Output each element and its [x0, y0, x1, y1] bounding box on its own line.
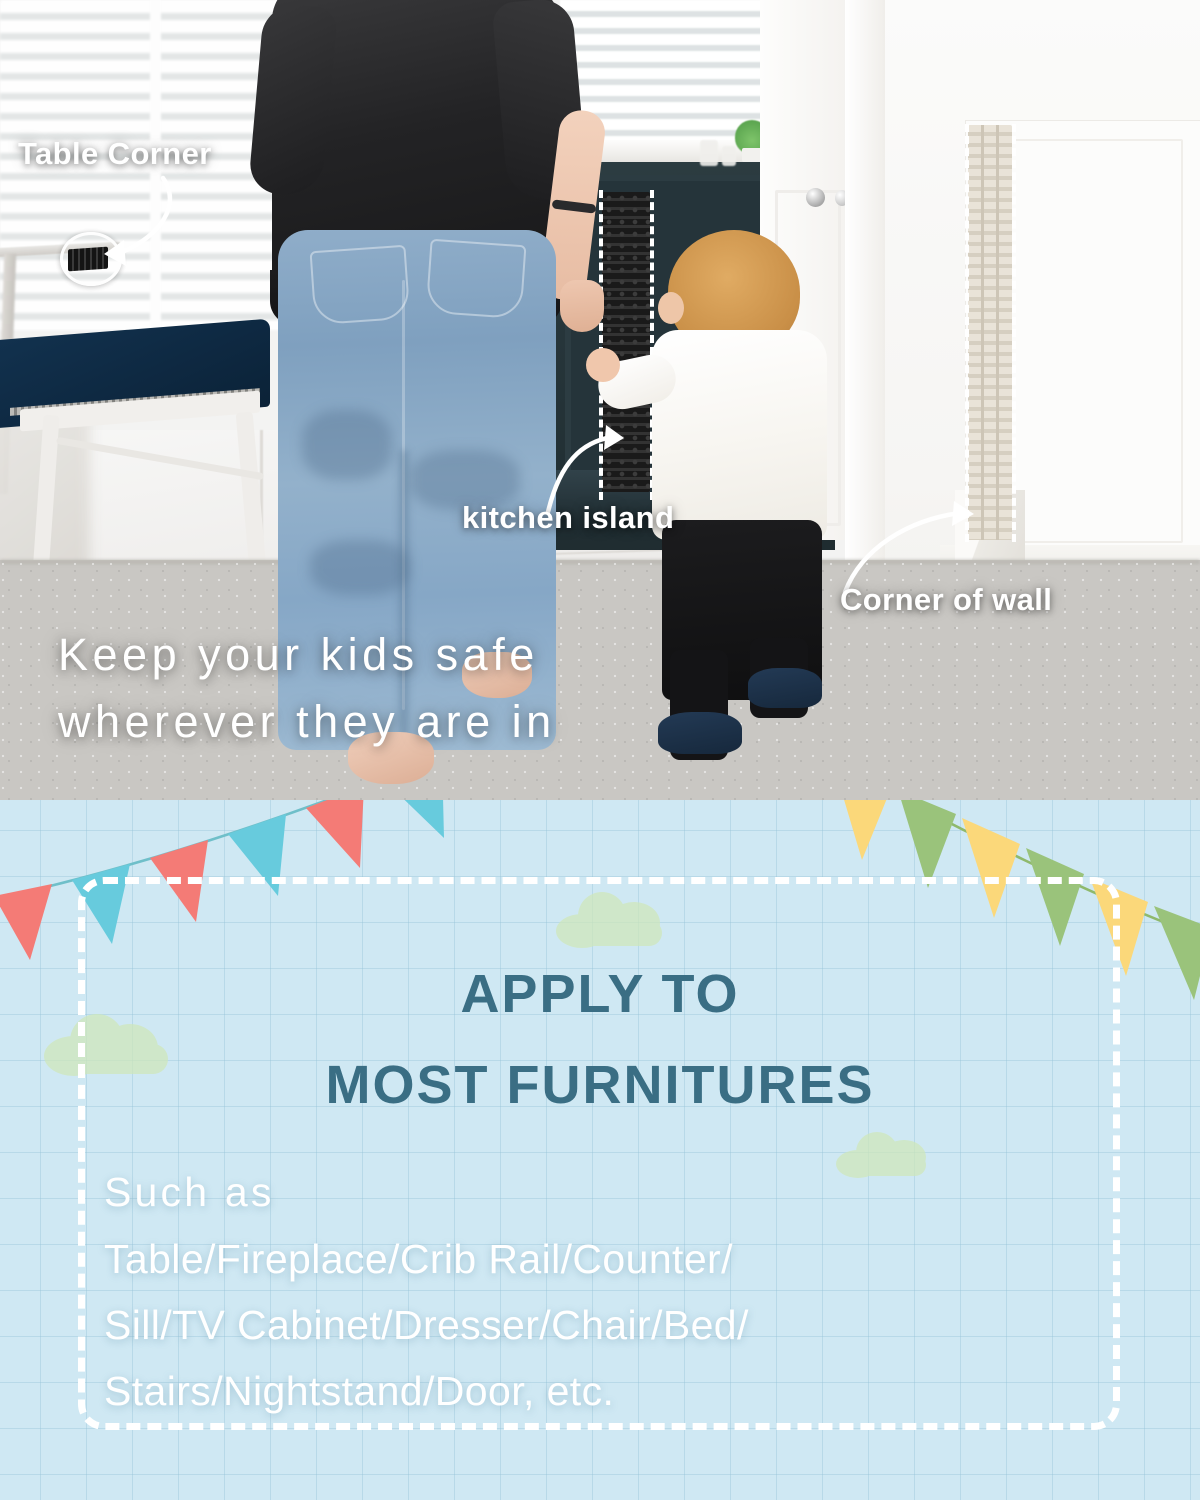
headline-line-2: wherever they are in: [58, 689, 556, 756]
guard-outline-dash: [1012, 124, 1016, 542]
headline-line-1: Keep your kids safe: [58, 622, 556, 689]
lifestyle-photo: Table Corner kitchen island Corner of wa…: [0, 0, 1200, 800]
toddler-shoe-right: [748, 668, 822, 708]
toddler-shoe-left: [658, 712, 742, 754]
product-infographic: Table Corner kitchen island Corner of wa…: [0, 0, 1200, 1500]
wall-corner-guard-product: [968, 125, 1012, 540]
furniture-list-line-2: Sill/TV Cabinet/Dresser/Chair/Bed/: [104, 1302, 749, 1349]
jeans-fold: [302, 410, 392, 480]
furniture-list-line-1: Table/Fireplace/Crib Rail/Counter/: [104, 1236, 733, 1283]
toddler-ear: [658, 292, 684, 324]
guard-outline-dash: [599, 190, 603, 500]
door-knob: [806, 188, 825, 207]
toddler-shirt: [652, 330, 827, 540]
toddler-figure: [640, 230, 855, 760]
mother-hand: [560, 280, 604, 332]
window-mullion: [150, 0, 161, 330]
jeans-pocket-right: [426, 239, 527, 320]
apply-to-panel: APPLY TO MOST FURNITURES Such as Table/F…: [0, 800, 1200, 1500]
plant-pot: [742, 148, 762, 162]
guard-outline-dash: [965, 124, 969, 542]
toddler-hand: [586, 348, 620, 382]
jeans-fold: [410, 450, 520, 510]
counter-jar: [700, 140, 718, 166]
counter-jar: [722, 146, 736, 166]
jeans-fold: [310, 540, 410, 595]
highlight-circle: [60, 232, 122, 286]
photo-headline: Keep your kids safe wherever they are in: [58, 622, 556, 755]
furniture-list-line-3: Stairs/Nightstand/Door, etc.: [104, 1368, 614, 1415]
apply-heading-line-1: APPLY TO: [0, 963, 1200, 1025]
such-as-label: Such as: [104, 1163, 275, 1222]
apply-heading-line-2: MOST FURNITURES: [0, 1054, 1200, 1116]
jeans-pocket-left: [310, 245, 411, 326]
